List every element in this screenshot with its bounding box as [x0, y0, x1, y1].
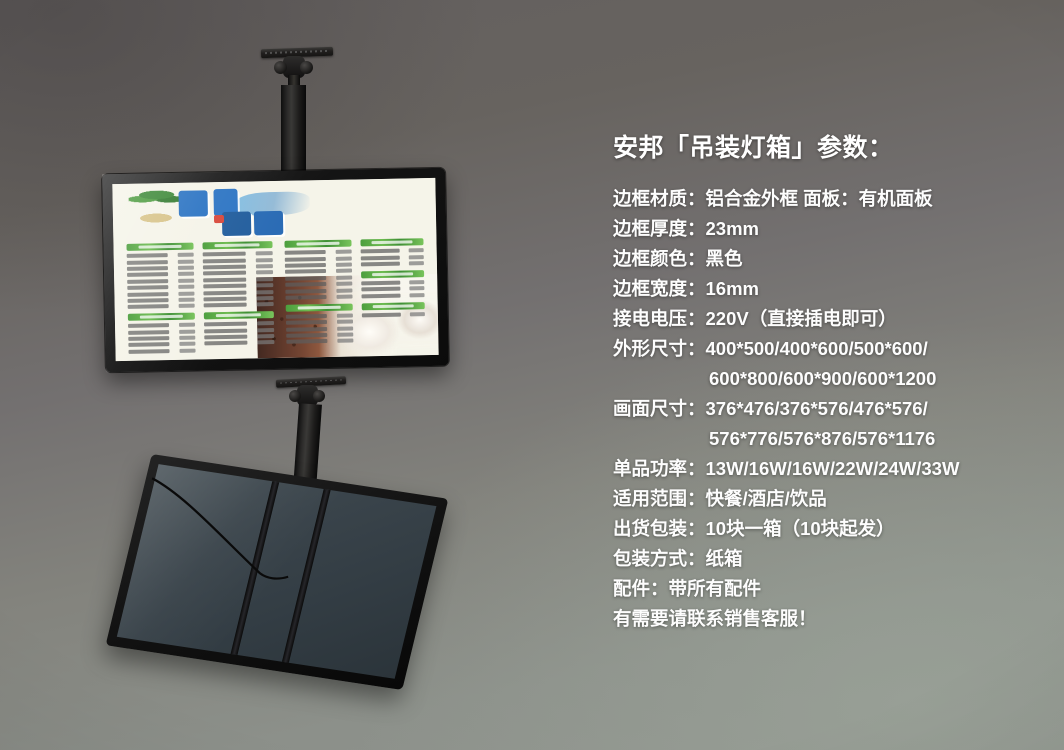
menu-item-name: [127, 285, 168, 290]
spec-line: 配件：带所有配件: [613, 574, 1053, 604]
mount-pole: [281, 85, 306, 177]
spec-line: 画面尺寸：376*476/376*576/476*576/: [613, 394, 1053, 424]
menu-item-name: [128, 336, 169, 341]
ceiling-mount-upper: [243, 48, 347, 176]
menu-item-row: [361, 261, 425, 266]
menu-item-price: [177, 253, 193, 257]
menu-section: [128, 313, 196, 354]
menu-item-name: [284, 250, 325, 255]
menu-item-row: [127, 297, 194, 302]
spec-line: 出货包装：10块一箱（10块起发）: [613, 514, 1053, 544]
menu-item-row: [204, 334, 274, 339]
spec-line: 边框宽度：16mm: [613, 274, 1053, 304]
menu-item-price: [256, 264, 273, 268]
title-accent-icon: [214, 215, 225, 224]
spec-line: 边框材质：铝合金外框 面板：有机面板: [613, 184, 1053, 214]
menu-column: [126, 243, 195, 359]
menu-item-row: [127, 266, 194, 271]
menu-item-price: [179, 329, 195, 333]
menu-item-name: [285, 295, 326, 300]
title-glyph-1: [178, 191, 208, 217]
menu-item-name: [285, 269, 326, 274]
menu-item-price: [409, 261, 424, 265]
menu-item-name: [285, 263, 326, 268]
spec-line: 边框厚度：23mm: [613, 214, 1053, 244]
menu-section-header: [360, 238, 424, 246]
poster-title-text: [176, 186, 311, 242]
menu-item-price: [410, 293, 425, 297]
spec-line: 边框颜色：黑色: [613, 244, 1053, 274]
menu-section: [204, 311, 274, 346]
menu-item-row: [128, 336, 195, 341]
menu-item-price: [178, 266, 194, 270]
pivot-knob-left-icon: [289, 390, 301, 402]
menu-column: [202, 241, 274, 351]
menu-section: [361, 270, 425, 298]
menu-item-price: [257, 328, 274, 332]
menu-item-row: [286, 320, 353, 325]
menu-item-row: [286, 313, 353, 318]
menu-item-name: [285, 282, 326, 287]
menu-item-name: [203, 284, 246, 289]
menu-item-row: [203, 277, 273, 282]
menu-item-price: [177, 259, 193, 263]
menu-item-name: [361, 281, 401, 286]
menu-item-row: [127, 278, 194, 283]
menu-item-row: [127, 291, 194, 296]
menu-item-name: [203, 290, 246, 295]
menu-item-row: [127, 253, 194, 258]
menu-item-row: [360, 248, 424, 253]
menu-item-price: [336, 275, 352, 279]
menu-item-price: [335, 256, 351, 260]
menu-item-price: [178, 297, 194, 301]
menu-item-name: [204, 322, 247, 327]
menu-item-price: [257, 302, 274, 306]
menu-item-price: [336, 294, 352, 298]
menu-item-price: [178, 304, 194, 308]
spec-title: 安邦「吊装灯箱」参数：: [613, 128, 1053, 164]
menu-section: [126, 243, 194, 309]
menu-item-price: [335, 250, 351, 254]
menu-item-price: [257, 321, 274, 325]
menu-item-name: [360, 249, 400, 254]
menu-section-header: [361, 270, 425, 278]
pivot-knob-right-icon: [300, 61, 313, 74]
menu-item-name: [128, 323, 169, 328]
menu-item-name: [127, 292, 168, 297]
menu-item-name: [285, 257, 326, 262]
menu-item-row: [285, 269, 352, 274]
menu-item-row: [285, 294, 352, 299]
menu-item-row: [204, 321, 274, 326]
pivot-knob-right-icon: [313, 390, 325, 402]
lightbox-front-unit: [102, 168, 449, 373]
menu-item-price: [256, 296, 273, 300]
menu-section-header: [126, 243, 193, 251]
menu-item-row: [203, 283, 273, 288]
menu-item-price: [256, 283, 273, 287]
menu-item-price: [336, 282, 352, 286]
menu-item-name: [362, 312, 402, 317]
menu-item-name: [127, 279, 168, 284]
menu-item-name: [286, 327, 327, 332]
menu-item-price: [257, 334, 274, 338]
menu-section-header: [204, 311, 274, 319]
menu-section: [284, 240, 352, 300]
menu-columns: [126, 238, 432, 355]
menu-column: [284, 240, 353, 350]
menu-section-header: [285, 303, 352, 311]
poster-title-art: [129, 186, 311, 243]
menu-item-name: [285, 289, 326, 294]
menu-item-row: [203, 302, 273, 307]
menu-item-price: [337, 339, 353, 343]
menu-item-name: [203, 258, 246, 263]
menu-item-name: [286, 314, 327, 319]
menu-item-price: [336, 313, 352, 317]
menu-item-price: [179, 348, 195, 352]
menu-item-price: [179, 323, 195, 327]
spec-line-list: 边框材质：铝合金外框 面板：有机面板边框厚度：23mm边框颜色：黑色边框宽度：1…: [613, 184, 1053, 634]
menu-item-name: [127, 253, 168, 258]
menu-item-row: [203, 296, 273, 301]
menu-item-row: [286, 339, 353, 344]
menu-item-row: [285, 288, 352, 293]
menu-item-price: [335, 262, 351, 266]
spec-line: 接电电压：220V（直接插电即可）: [613, 304, 1053, 334]
menu-item-row: [361, 280, 425, 285]
menu-poster: [112, 178, 438, 361]
menu-item-name: [127, 298, 168, 303]
menu-item-price: [410, 312, 425, 316]
menu-item-price: [178, 272, 194, 276]
menu-item-row: [285, 282, 352, 287]
menu-item-name: [127, 272, 168, 277]
menu-item-price: [256, 270, 273, 274]
menu-item-price: [256, 258, 273, 262]
menu-item-price: [409, 248, 424, 252]
menu-item-price: [256, 277, 273, 281]
menu-item-name: [127, 260, 168, 265]
menu-section-header: [128, 313, 195, 321]
menu-section-header: [202, 241, 272, 249]
menu-item-row: [128, 329, 195, 334]
menu-item-name: [127, 266, 168, 271]
menu-item-price: [178, 278, 194, 282]
menu-item-price: [256, 290, 273, 294]
menu-item-name: [286, 320, 327, 325]
menu-section: [285, 303, 353, 344]
menu-item-price: [178, 285, 194, 289]
menu-item-price: [256, 251, 273, 255]
menu-item-row: [285, 275, 352, 280]
menu-item-row: [361, 293, 425, 298]
menu-column: [360, 238, 425, 322]
menu-section: [202, 241, 273, 307]
menu-item-row: [362, 312, 426, 317]
spec-line: 600*800/600*900/600*1200: [613, 364, 1053, 394]
menu-item-name: [128, 349, 169, 354]
menu-item-price: [336, 288, 352, 292]
menu-item-name: [203, 303, 246, 308]
menu-item-row: [202, 251, 272, 256]
menu-item-name: [286, 333, 327, 338]
menu-item-name: [286, 339, 327, 344]
menu-item-name: [361, 293, 401, 298]
spec-panel: 安邦「吊装灯箱」参数： 边框材质：铝合金外框 面板：有机面板边框厚度：23mm边…: [613, 128, 1053, 634]
menu-item-price: [178, 291, 194, 295]
menu-item-price: [337, 320, 353, 324]
menu-item-price: [409, 280, 424, 284]
menu-item-row: [361, 286, 425, 291]
menu-item-price: [179, 336, 195, 340]
menu-item-price: [337, 326, 353, 330]
menu-item-price: [337, 333, 353, 337]
menu-item-name: [203, 265, 246, 270]
menu-item-name: [128, 304, 169, 309]
menu-item-row: [128, 323, 195, 328]
menu-item-row: [286, 333, 353, 338]
menu-item-row: [203, 270, 273, 275]
menu-item-row: [285, 262, 352, 267]
menu-item-row: [128, 348, 195, 353]
menu-item-name: [360, 255, 400, 260]
menu-item-name: [128, 343, 169, 348]
menu-item-row: [127, 272, 194, 277]
menu-item-name: [361, 287, 401, 292]
menu-item-row: [203, 264, 273, 269]
spec-line: 包装方式：纸箱: [613, 544, 1053, 574]
menu-section: [360, 238, 424, 266]
menu-item-row: [360, 255, 424, 260]
menu-item-price: [410, 286, 425, 290]
menu-item-row: [128, 342, 195, 347]
menu-item-name: [204, 328, 247, 333]
product-photo: 安邦「吊装灯箱」参数： 边框材质：铝合金外框 面板：有机面板边框厚度：23mm边…: [0, 0, 1064, 750]
menu-item-price: [409, 255, 424, 259]
menu-section-header: [361, 302, 425, 310]
pivot-knob-left-icon: [274, 61, 287, 74]
menu-item-row: [128, 304, 195, 309]
title-glyph-3: [222, 211, 252, 236]
menu-item-name: [204, 341, 247, 346]
spec-line: 外形尺寸：400*500/400*600/500*600/: [613, 334, 1053, 364]
menu-item-name: [202, 252, 245, 257]
menu-item-name: [203, 271, 246, 276]
menu-item-price: [336, 269, 352, 273]
menu-item-row: [204, 328, 274, 333]
menu-item-row: [203, 258, 273, 263]
menu-item-row: [286, 326, 353, 331]
menu-item-row: [284, 250, 351, 255]
menu-section: [361, 302, 425, 317]
menu-item-name: [361, 262, 401, 267]
spec-line: 单品功率：13W/16W/16W/22W/24W/33W: [613, 454, 1053, 484]
menu-section-header: [284, 240, 351, 248]
spec-line: 有需要请联系销售客服！: [613, 604, 1053, 634]
menu-item-row: [203, 290, 273, 295]
spec-line: 适用范围：快餐/酒店/饮品: [613, 484, 1053, 514]
title-glyph-4: [254, 211, 284, 236]
menu-item-price: [257, 341, 274, 345]
menu-item-name: [285, 276, 326, 281]
menu-item-name: [204, 335, 247, 340]
menu-item-name: [203, 277, 246, 282]
menu-item-row: [204, 341, 274, 346]
lightbox-screen: [112, 178, 438, 361]
menu-item-name: [128, 330, 169, 335]
menu-item-row: [127, 259, 194, 264]
menu-item-price: [179, 342, 195, 346]
menu-item-row: [127, 285, 194, 290]
menu-item-name: [203, 296, 246, 301]
menu-item-row: [285, 256, 352, 261]
spec-line: 576*776/576*876/576*1176: [613, 424, 1053, 454]
